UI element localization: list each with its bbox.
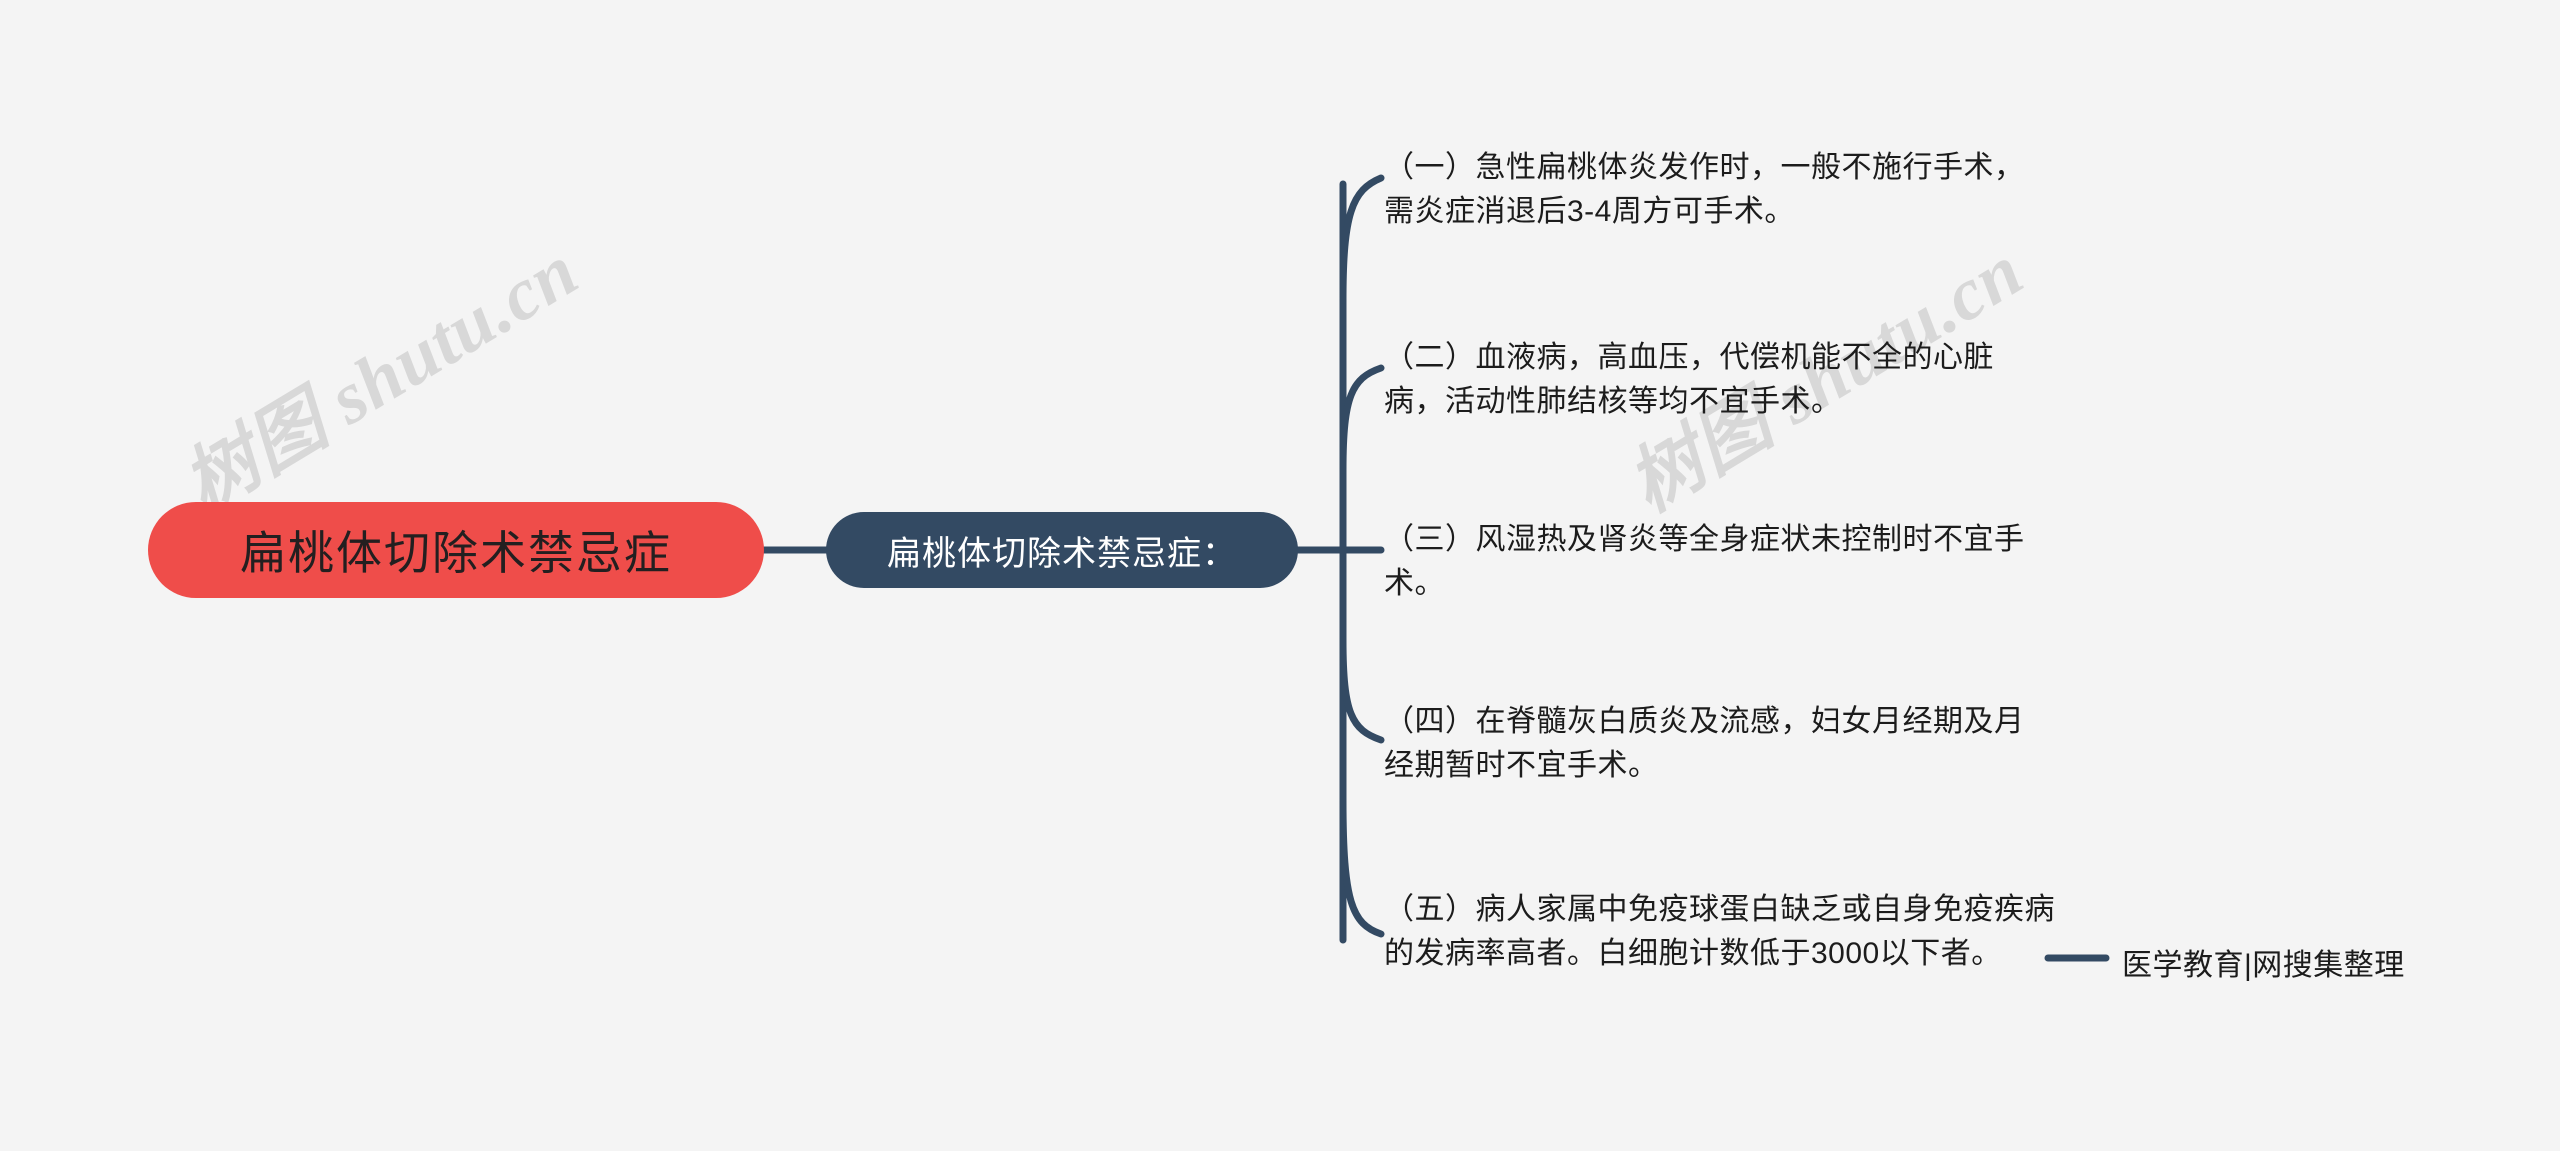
watermark-left: 树图 shutu.cn <box>160 212 595 532</box>
link-branch-1 <box>1343 178 1381 300</box>
branch-node-1[interactable]: （一）急性扁桃体炎发作时，一般不施行手术，需炎症消退后3-4周方可手术。 <box>1384 146 2044 234</box>
link-branch-2 <box>1343 368 1381 470</box>
branch-node-5[interactable]: （五）病人家属中免疫球蛋白缺乏或自身免疫疾病的发病率高者。白细胞计数低于3000… <box>1384 888 2064 976</box>
branch-node-4[interactable]: （四）在脊髓灰白质炎及流感，妇女月经期及月经期暂时不宜手术。 <box>1384 700 2044 788</box>
topic-node-label: 扁桃体切除术禁忌症： <box>887 526 1237 575</box>
source-node[interactable]: 医学教育|网搜集整理 <box>2122 944 2405 988</box>
link-branch-5 <box>1343 800 1381 934</box>
root-node-label: 扁桃体切除术禁忌症 <box>240 517 672 583</box>
link-branch-4 <box>1343 640 1381 740</box>
branch-node-3[interactable]: （三）风湿热及肾炎等全身症状未控制时不宜手术。 <box>1384 518 2044 606</box>
topic-node[interactable]: 扁桃体切除术禁忌症： <box>826 512 1298 588</box>
root-node[interactable]: 扁桃体切除术禁忌症 <box>148 502 764 598</box>
mindmap-canvas: 树图 shutu.cn 树图 shutu.cn 扁桃体切除术禁忌症 <box>0 0 2560 1151</box>
branch-node-2[interactable]: （二）血液病，高血压，代偿机能不全的心脏病，活动性肺结核等均不宜手术。 <box>1384 336 2044 424</box>
